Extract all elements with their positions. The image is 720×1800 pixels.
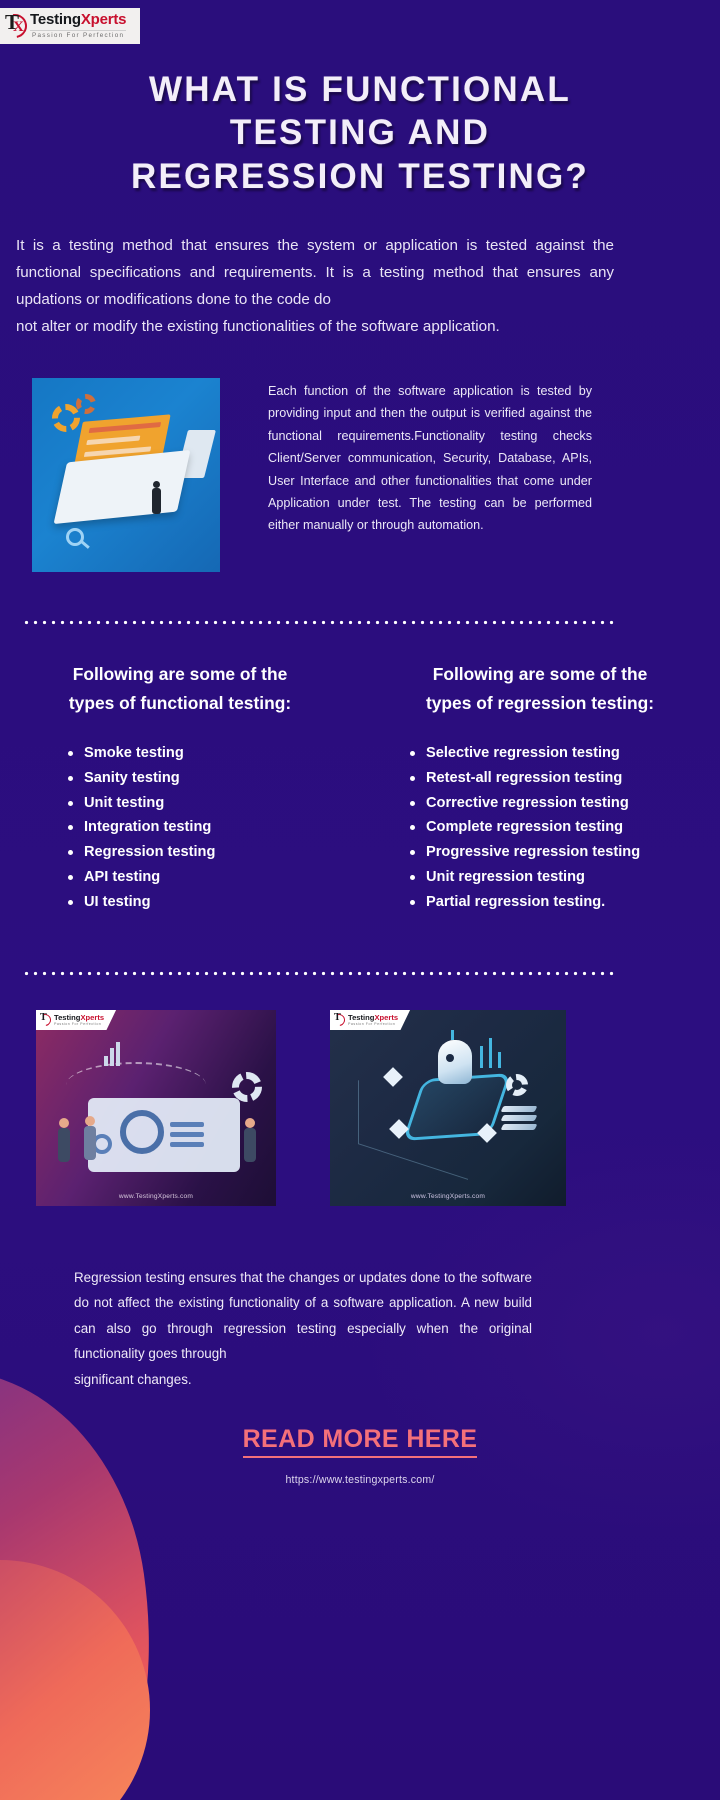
functional-testing-column: Following are some of the types of funct… <box>0 660 360 920</box>
intro-paragraph: It is a testing method that ensures the … <box>16 233 614 341</box>
person-figure-icon <box>84 1126 96 1160</box>
image-watermark: www.TestingXperts.com <box>36 1193 276 1200</box>
section-divider-top <box>22 620 618 625</box>
magnifier-icon <box>66 528 84 546</box>
team-dashboard-illustration: T TestingXperts Passion For Perfection w… <box>36 1010 276 1206</box>
badge-name-accent: Xperts <box>80 1013 104 1022</box>
cube-icon <box>383 1067 403 1087</box>
closing-paragraph: Regression testing ensures that the chan… <box>74 1265 532 1392</box>
logo-monogram-icon: T X <box>2 11 28 41</box>
layers-stack-icon <box>502 1106 536 1130</box>
robot-icon <box>438 1040 472 1084</box>
list-item: Unit regression testing <box>410 870 706 895</box>
list-lines-graphic <box>170 1122 204 1152</box>
bar-chart-icon <box>104 1042 128 1068</box>
regression-testing-list: Selective regression testing Retest-all … <box>374 746 706 920</box>
list-item: API testing <box>68 870 346 895</box>
badge-tagline: Passion For Perfection <box>54 1023 104 1027</box>
section-divider-bottom <box>22 971 618 976</box>
headline-line-1: WHAT IS FUNCTIONAL <box>0 68 720 111</box>
list-item: Smoke testing <box>68 746 346 771</box>
badge-name-accent: Xperts <box>374 1013 398 1022</box>
list-item: Corrective regression testing <box>410 796 706 821</box>
dashboard-card-graphic <box>88 1098 240 1172</box>
person-figure-icon <box>58 1128 70 1162</box>
page-title: WHAT IS FUNCTIONAL TESTING AND REGRESSIO… <box>0 68 720 198</box>
list-item: Partial regression testing. <box>410 895 706 920</box>
badge-tagline: Passion For Perfection <box>348 1023 398 1027</box>
list-item: Retest-all regression testing <box>410 771 706 796</box>
image-brand-badge: T TestingXperts Passion For Perfection <box>36 1010 116 1030</box>
list-item: Integration testing <box>68 820 346 845</box>
robot-automation-illustration: T TestingXperts Passion For Perfection w… <box>330 1010 566 1206</box>
gear-small-icon <box>76 394 96 414</box>
closing-text: Regression testing ensures that the chan… <box>74 1270 532 1361</box>
gear-icon <box>52 404 80 432</box>
logo-wordmark: TestingXperts Passion For Perfection <box>30 12 126 39</box>
logo-monogram-accent-letter: X <box>13 20 24 35</box>
person-figure-icon <box>152 488 161 514</box>
read-more-link[interactable]: READ MORE HERE <box>243 1425 478 1458</box>
image-brand-badge: T TestingXperts Passion For Perfection <box>330 1010 410 1030</box>
list-item: Selective regression testing <box>410 746 706 771</box>
functional-testing-list: Smoke testing Sanity testing Unit testin… <box>14 746 346 920</box>
intro-text: It is a testing method that ensures the … <box>16 237 614 308</box>
regression-testing-column: Following are some of the types of regre… <box>360 660 720 920</box>
call-to-action: READ MORE HERE https://www.testingxperts… <box>0 1425 720 1486</box>
laptop-base-graphic <box>54 450 191 524</box>
signal-bars-icon <box>480 1038 528 1068</box>
brand-logo[interactable]: T X TestingXperts Passion For Perfection <box>0 8 140 44</box>
laptop-testing-illustration <box>32 378 220 572</box>
cta-url-text: https://www.testingxperts.com/ <box>0 1474 720 1486</box>
functional-column-heading: Following are some of the types of funct… <box>64 660 296 718</box>
badge-name-primary: Testing <box>54 1013 80 1022</box>
feature-paragraph: Each function of the software applicatio… <box>268 380 592 537</box>
badge-name-primary: Testing <box>348 1013 374 1022</box>
logo-tagline: Passion For Perfection <box>30 30 126 39</box>
list-item: Sanity testing <box>68 771 346 796</box>
regression-column-heading: Following are some of the types of regre… <box>413 660 667 718</box>
logo-name-primary: Testing <box>30 11 81 28</box>
logo-name-accent: Xperts <box>81 11 127 28</box>
list-item: Regression testing <box>68 845 346 870</box>
donut-chart-icon <box>120 1110 164 1154</box>
headline-line-2: TESTING AND <box>0 111 720 154</box>
types-columns: Following are some of the types of funct… <box>0 660 720 920</box>
intro-last-line: not alter or modify the existing functio… <box>16 314 614 341</box>
badge-monogram-icon: T <box>39 1013 52 1028</box>
person-figure-icon <box>244 1128 256 1162</box>
list-item: UI testing <box>68 895 346 920</box>
headline-line-3: REGRESSION TESTING? <box>0 155 720 198</box>
list-item: Progressive regression testing <box>410 845 706 870</box>
list-item: Complete regression testing <box>410 820 706 845</box>
infographic-page: T X TestingXperts Passion For Perfection… <box>0 0 720 1800</box>
gear-icon <box>506 1074 528 1096</box>
gear-icon <box>232 1072 262 1102</box>
image-watermark: www.TestingXperts.com <box>330 1193 566 1200</box>
list-item: Unit testing <box>68 796 346 821</box>
closing-last-line: significant changes. <box>74 1367 532 1392</box>
badge-monogram-icon: T <box>333 1013 346 1028</box>
